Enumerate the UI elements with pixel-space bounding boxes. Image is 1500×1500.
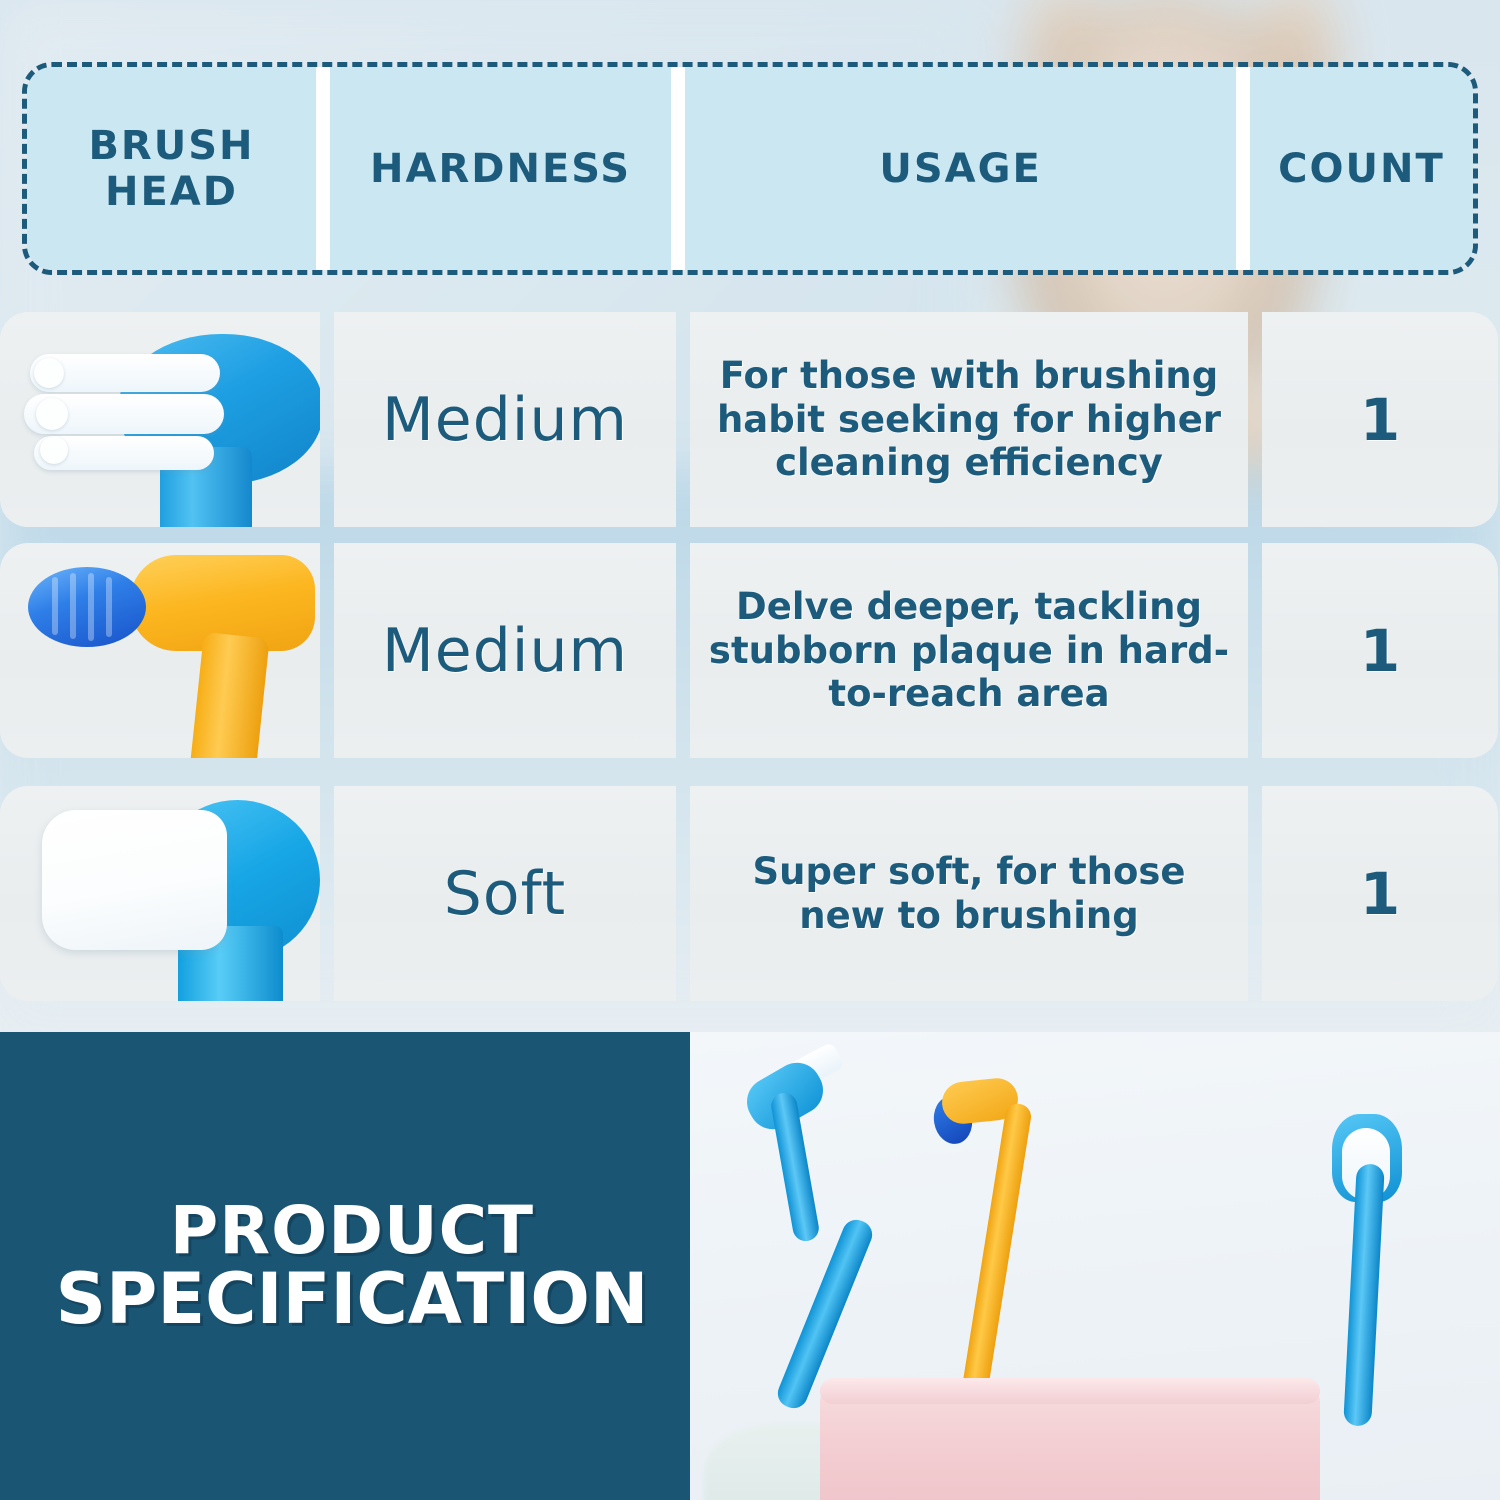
blue-soft-brush-shaft <box>1343 1163 1385 1426</box>
row-divider-2 <box>676 543 690 758</box>
header-cell-usage: USAGE <box>685 67 1236 270</box>
header-cell-count: COUNT <box>1250 67 1473 270</box>
row-divider-2 <box>676 786 690 1001</box>
table-header-row: BRUSH HEAD HARDNESS USAGE COUNT <box>22 62 1478 275</box>
header-label-usage: USAGE <box>879 146 1041 192</box>
hardness-cell: Medium <box>334 312 676 527</box>
row-divider-1 <box>320 312 334 527</box>
usage-value: Delve deeper, tackling stubborn plaque i… <box>690 585 1248 716</box>
count-cell: 1 <box>1262 543 1498 758</box>
count-value: 1 <box>1360 386 1400 454</box>
orange-brush-shaft <box>957 1102 1033 1422</box>
toothbrush-photo <box>690 1032 1500 1500</box>
banner-title: PRODUCT SPECIFICATION <box>42 1197 649 1336</box>
hardness-value: Soft <box>444 859 566 929</box>
orange-interdental-brush-head-icon <box>0 543 320 758</box>
hardness-value: Medium <box>382 385 628 455</box>
specification-table-section: BRUSH HEAD HARDNESS USAGE COUNT <box>0 0 1500 1032</box>
count-cell: 1 <box>1262 786 1498 1001</box>
count-value: 1 <box>1360 860 1400 928</box>
header-divider-2 <box>671 67 685 270</box>
table-row: Soft Super soft, for those new to brushi… <box>0 786 1500 1001</box>
count-value: 1 <box>1360 617 1400 685</box>
hardness-cell: Medium <box>334 543 676 758</box>
header-divider-3 <box>1236 67 1250 270</box>
blue-soft-bristle-brush-head-icon <box>0 786 320 1001</box>
count-cell: 1 <box>1262 312 1498 527</box>
pink-cup-rim <box>820 1378 1320 1404</box>
table-row: Medium For those with brushing habit see… <box>0 312 1500 527</box>
header-label-count: COUNT <box>1278 146 1445 192</box>
row-divider-3 <box>1248 786 1262 1001</box>
hardness-cell: Soft <box>334 786 676 1001</box>
hardness-value: Medium <box>382 616 628 686</box>
header-cell-brush-head: BRUSH HEAD <box>27 67 316 270</box>
row-divider-3 <box>1248 312 1262 527</box>
row-divider-3 <box>1248 543 1262 758</box>
usage-value: Super soft, for those new to brushing <box>690 850 1248 937</box>
banner-title-line2: SPECIFICATION <box>56 1264 649 1335</box>
row-divider-1 <box>320 786 334 1001</box>
brush-head-image-cell <box>0 312 320 527</box>
usage-cell: Super soft, for those new to brushing <box>690 786 1248 1001</box>
banner-title-line1: PRODUCT <box>56 1197 649 1264</box>
table-row: Medium Delve deeper, tackling stubborn p… <box>0 543 1500 758</box>
blue-angled-brush-shaft <box>769 1091 821 1243</box>
row-divider-1 <box>320 543 334 758</box>
usage-value: For those with brushing habit seeking fo… <box>690 354 1248 485</box>
brush-head-image-cell <box>0 786 320 1001</box>
blue-wide-toothbrush-head-icon <box>0 312 320 527</box>
usage-cell: For those with brushing habit seeking fo… <box>690 312 1248 527</box>
header-label-brush-head: BRUSH HEAD <box>88 123 254 215</box>
product-specification-banner: PRODUCT SPECIFICATION <box>0 1032 690 1500</box>
usage-cell: Delve deeper, tackling stubborn plaque i… <box>690 543 1248 758</box>
header-label-hardness: HARDNESS <box>370 146 631 192</box>
header-divider-1 <box>316 67 330 270</box>
row-divider-2 <box>676 312 690 527</box>
header-cell-hardness: HARDNESS <box>330 67 671 270</box>
brush-head-image-cell <box>0 543 320 758</box>
